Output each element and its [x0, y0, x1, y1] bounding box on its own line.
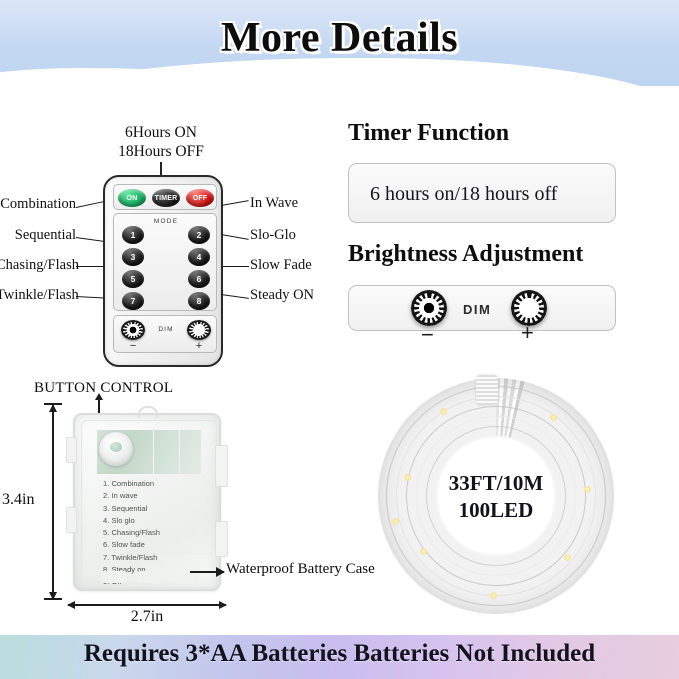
- button-control-label: BUTTON CONTROL: [34, 380, 173, 397]
- leader-line-slo-glo: [221, 234, 249, 240]
- brightness-adjustment-heading: Brightness Adjustment: [348, 241, 583, 268]
- leader-line-in-wave: [221, 200, 249, 206]
- coil-cable-tie: [476, 375, 498, 405]
- led-bulb-icon: [564, 554, 571, 561]
- led-bulb-icon: [420, 548, 427, 555]
- remote-mode-button-5[interactable]: 5: [122, 270, 144, 288]
- leader-line-combination: [76, 201, 104, 208]
- remote-mode-row: MODE 1 2 3 4 5 6 7 8: [113, 213, 217, 311]
- remote-power-row: ON TIMER OFF: [113, 184, 217, 210]
- product-detail-page: More Details 6Hours ON 18Hours OFF ON TI…: [0, 0, 679, 679]
- remote-timer-callout-line2: 18Hours OFF: [86, 143, 236, 162]
- remote-mode-button-2[interactable]: 2: [188, 226, 210, 244]
- remote-label-slo-glo: Slo-Glo: [250, 227, 296, 244]
- leader-line-steady-on: [221, 294, 249, 299]
- battery-case-foot-3: [173, 571, 199, 583]
- brightness-minus-sign: −: [421, 322, 434, 348]
- battery-case-foot-2: [137, 571, 163, 583]
- remote-mode-button-6[interactable]: 6: [188, 270, 210, 288]
- remote-dim-up-icon[interactable]: [187, 320, 211, 340]
- footer-text: Requires 3*AA Batteries Batteries Not In…: [0, 640, 679, 668]
- remote-timer-button[interactable]: TIMER: [152, 189, 180, 207]
- remote-mode-button-3[interactable]: 3: [122, 248, 144, 266]
- battery-case-latch-right-top: [215, 445, 228, 487]
- leader-line-chasing-flash: [76, 266, 104, 267]
- remote-on-button[interactable]: ON: [118, 189, 146, 207]
- width-dimension-label: 2.7in: [0, 608, 294, 626]
- battery-compartment-divider-2: [179, 430, 180, 474]
- brightness-dim-label: DIM: [463, 302, 491, 317]
- battery-case-foot-1: [101, 571, 127, 583]
- battery-case-latch-left-top: [66, 437, 77, 463]
- waterproof-case-arrow: [190, 571, 224, 573]
- led-bulb-icon: [550, 414, 557, 421]
- battery-case-latch-left-bottom: [66, 507, 77, 533]
- height-dimension-arrow: [52, 405, 54, 599]
- remote-timer-callout-line1: 6Hours ON: [86, 124, 236, 143]
- remote-mode-button-4[interactable]: 4: [188, 248, 210, 266]
- leader-line-twinkle-flash: [76, 296, 104, 299]
- leader-line-slow-fade: [221, 266, 249, 267]
- height-dimension-cap-bottom: [44, 598, 62, 600]
- width-dimension-arrow: [68, 604, 226, 606]
- remote-mode-button-7[interactable]: 7: [122, 292, 144, 310]
- remote-label-combination: Combination: [0, 196, 76, 213]
- battery-case-control-button[interactable]: [99, 432, 133, 466]
- remote-control: ON TIMER OFF MODE 1 2 3 4 5 6 7 8 DIM − …: [103, 175, 223, 367]
- remote-label-in-wave: In Wave: [250, 195, 298, 212]
- battery-case-latch-right-bottom: [215, 521, 228, 557]
- battery-case-hook: [138, 406, 158, 418]
- remote-timer-callout: 6Hours ON 18Hours OFF: [86, 124, 236, 162]
- remote-label-chasing-flash: Chasing/Flash: [0, 257, 76, 274]
- remote-dim-row: DIM − +: [113, 315, 217, 353]
- timer-value-text: 6 hours on/18 hours off: [370, 183, 557, 206]
- remote-label-slow-fade: Slow Fade: [250, 257, 312, 274]
- callout-stem-line: [160, 162, 162, 176]
- remote-label-steady-on: Steady ON: [250, 287, 314, 304]
- led-bulb-icon: [490, 592, 497, 599]
- battery-case: 1. Combination 2. In wave 3. Sequential …: [73, 413, 221, 591]
- brightness-dim-down-icon[interactable]: [411, 290, 447, 326]
- remote-label-twinkle-flash: Twinkle/Flash: [0, 287, 76, 304]
- remote-mode-label: MODE: [114, 218, 218, 225]
- battery-compartment-divider-1: [153, 430, 154, 474]
- remote-mode-button-1[interactable]: 1: [122, 226, 144, 244]
- remote-off-button[interactable]: OFF: [186, 189, 214, 207]
- remote-label-sequential: Sequential: [0, 227, 76, 244]
- timer-function-heading: Timer Function: [348, 120, 509, 147]
- led-bulb-icon: [440, 408, 447, 415]
- coil-spec-text: 33FT/10M 100LED: [378, 470, 614, 525]
- brightness-plus-sign: +: [521, 320, 534, 346]
- waterproof-case-label: Waterproof Battery Case: [226, 561, 375, 578]
- page-title: More Details: [0, 14, 679, 62]
- remote-mode-button-8[interactable]: 8: [188, 292, 210, 310]
- remote-dim-plus-sign: +: [187, 340, 211, 352]
- height-dimension-label: 3.4in: [2, 491, 34, 509]
- remote-dim-minus-sign: −: [121, 340, 145, 352]
- leader-line-sequential: [76, 237, 104, 242]
